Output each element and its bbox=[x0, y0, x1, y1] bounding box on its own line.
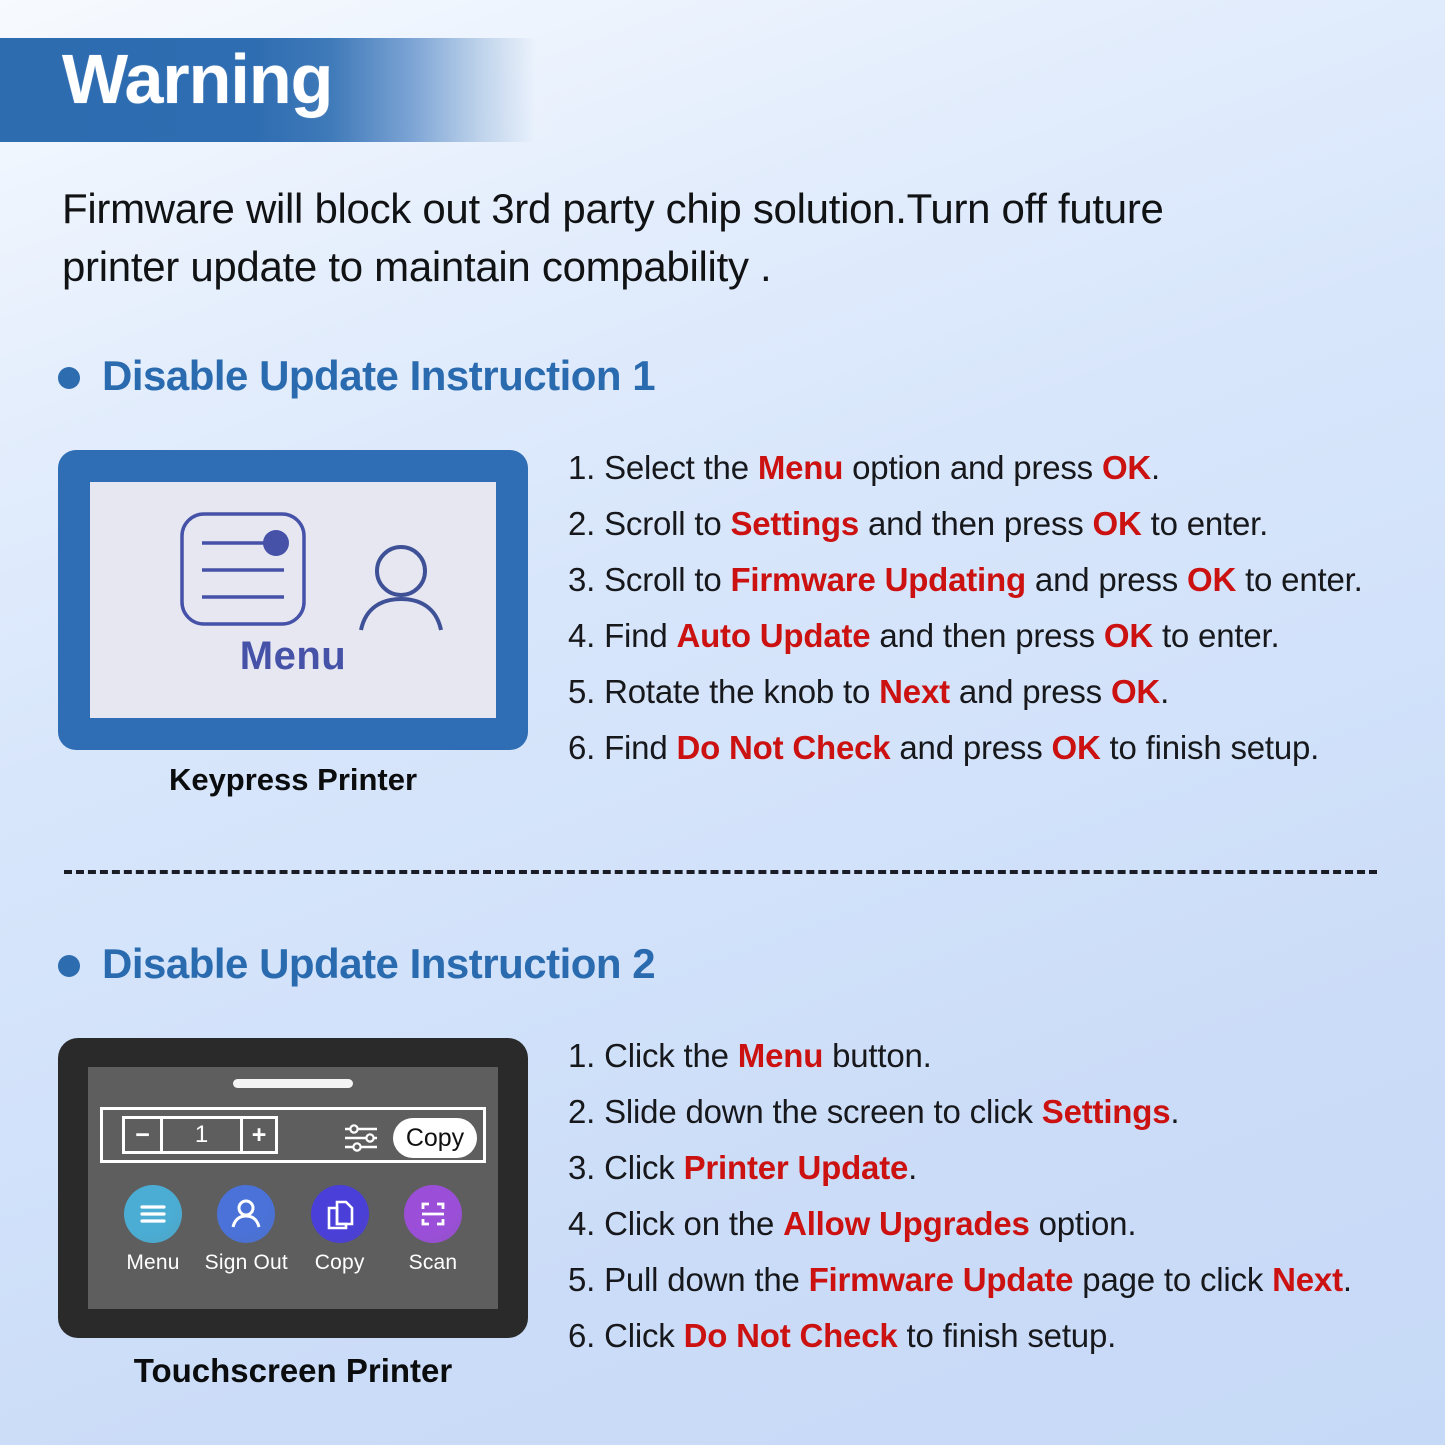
app-shortcut-scan[interactable]: Scan bbox=[390, 1185, 476, 1275]
instruction-step: 1. Click the Menu button. bbox=[568, 1028, 1428, 1084]
highlight-term: Settings bbox=[1042, 1093, 1171, 1130]
stepper-decrement-button[interactable]: − bbox=[122, 1116, 160, 1154]
instruction-step: 5. Rotate the knob to Next and press OK. bbox=[568, 664, 1428, 720]
copy-toolbar: − 1 + Copy bbox=[100, 1107, 486, 1163]
instruction-step: 6. Find Do Not Check and press OK to fin… bbox=[568, 720, 1428, 776]
highlight-term: Next bbox=[879, 673, 950, 710]
app-circle-menu[interactable] bbox=[124, 1185, 182, 1243]
section-heading-2: Disable Update Instruction 2 bbox=[58, 940, 655, 988]
instruction-step: 6. Click Do Not Check to finish setup. bbox=[568, 1308, 1428, 1364]
list-menu-icon[interactable] bbox=[178, 510, 308, 628]
app-circle-sign-out[interactable] bbox=[217, 1185, 275, 1243]
instruction-step: 4. Find Auto Update and then press OK to… bbox=[568, 608, 1428, 664]
user-icon[interactable] bbox=[358, 542, 444, 632]
app-circle-copy[interactable] bbox=[311, 1185, 369, 1243]
highlight-term: OK bbox=[1104, 617, 1153, 654]
scan-frame-icon bbox=[413, 1194, 453, 1234]
intro-paragraph: Firmware will block out 3rd party chip s… bbox=[62, 180, 1282, 296]
app-shortcut-row: Menu Sign Out bbox=[110, 1185, 476, 1275]
highlight-term: Do Not Check bbox=[684, 1317, 898, 1354]
instruction-step: 1. Select the Menu option and press OK. bbox=[568, 440, 1428, 496]
instruction-step: 3. Scroll to Firmware Updating and press… bbox=[568, 552, 1428, 608]
hamburger-menu-icon bbox=[133, 1194, 173, 1234]
highlight-term: Firmware Update bbox=[809, 1261, 1074, 1298]
highlight-term: Settings bbox=[730, 505, 859, 542]
sliders-icon[interactable] bbox=[343, 1123, 379, 1153]
highlight-term: OK bbox=[1051, 729, 1100, 766]
highlight-term: OK bbox=[1111, 673, 1160, 710]
app-label-menu: Menu bbox=[126, 1251, 179, 1275]
copies-stepper[interactable]: − 1 + bbox=[122, 1116, 278, 1154]
highlight-term: Do Not Check bbox=[676, 729, 890, 766]
infographic-page: Warning Firmware will block out 3rd part… bbox=[0, 0, 1445, 1445]
bullet-dot-icon bbox=[58, 367, 80, 389]
app-label-scan: Scan bbox=[409, 1251, 458, 1275]
highlight-term: Printer Update bbox=[684, 1149, 909, 1186]
keypress-printer-caption: Keypress Printer bbox=[58, 762, 528, 798]
app-shortcut-copy[interactable]: Copy bbox=[297, 1185, 383, 1275]
warning-title: Warning bbox=[62, 44, 332, 114]
highlight-term: OK bbox=[1093, 505, 1142, 542]
bullet-dot-icon bbox=[58, 955, 80, 977]
app-label-sign-out: Sign Out bbox=[205, 1251, 288, 1275]
section-divider bbox=[64, 870, 1377, 874]
instruction-step: 3. Click Printer Update. bbox=[568, 1140, 1428, 1196]
app-shortcut-sign-out[interactable]: Sign Out bbox=[203, 1185, 289, 1275]
section-heading-1: Disable Update Instruction 1 bbox=[58, 352, 655, 400]
highlight-term: Auto Update bbox=[676, 617, 870, 654]
stepper-increment-button[interactable]: + bbox=[240, 1116, 278, 1154]
touchscreen-printer-device: − 1 + Copy bbox=[58, 1038, 528, 1338]
instruction-list-2: 1. Click the Menu button.2. Slide down t… bbox=[568, 1028, 1428, 1364]
instruction-list-1: 1. Select the Menu option and press OK.2… bbox=[568, 440, 1428, 776]
instruction-step: 5. Pull down the Firmware Update page to… bbox=[568, 1252, 1428, 1308]
app-circle-scan[interactable] bbox=[404, 1185, 462, 1243]
instruction-step: 2. Slide down the screen to click Settin… bbox=[568, 1084, 1428, 1140]
keypress-printer-device: Menu bbox=[58, 450, 528, 750]
app-label-copy: Copy bbox=[315, 1251, 365, 1275]
highlight-term: Menu bbox=[758, 449, 843, 486]
section-heading-1-label: Disable Update Instruction 1 bbox=[102, 352, 655, 400]
touchscreen-printer-caption: Touchscreen Printer bbox=[58, 1352, 528, 1390]
highlight-term: Menu bbox=[738, 1037, 823, 1074]
user-icon bbox=[226, 1194, 266, 1234]
keypress-printer-screen: Menu bbox=[90, 482, 496, 718]
touchscreen-printer-screen: − 1 + Copy bbox=[88, 1067, 498, 1309]
instruction-step: 4. Click on the Allow Upgrades option. bbox=[568, 1196, 1428, 1252]
copy-button[interactable]: Copy bbox=[393, 1118, 477, 1158]
highlight-term: Allow Upgrades bbox=[783, 1205, 1030, 1242]
highlight-term: Next bbox=[1272, 1261, 1343, 1298]
highlight-term: Firmware Updating bbox=[730, 561, 1025, 598]
instruction-step: 2. Scroll to Settings and then press OK … bbox=[568, 496, 1428, 552]
highlight-term: OK bbox=[1187, 561, 1236, 598]
speaker-bar bbox=[233, 1079, 353, 1088]
keypress-menu-label: Menu bbox=[90, 634, 496, 679]
section-heading-2-label: Disable Update Instruction 2 bbox=[102, 940, 655, 988]
copy-documents-icon bbox=[320, 1194, 360, 1234]
app-shortcut-menu[interactable]: Menu bbox=[110, 1185, 196, 1275]
stepper-value: 1 bbox=[160, 1116, 240, 1154]
highlight-term: OK bbox=[1102, 449, 1151, 486]
